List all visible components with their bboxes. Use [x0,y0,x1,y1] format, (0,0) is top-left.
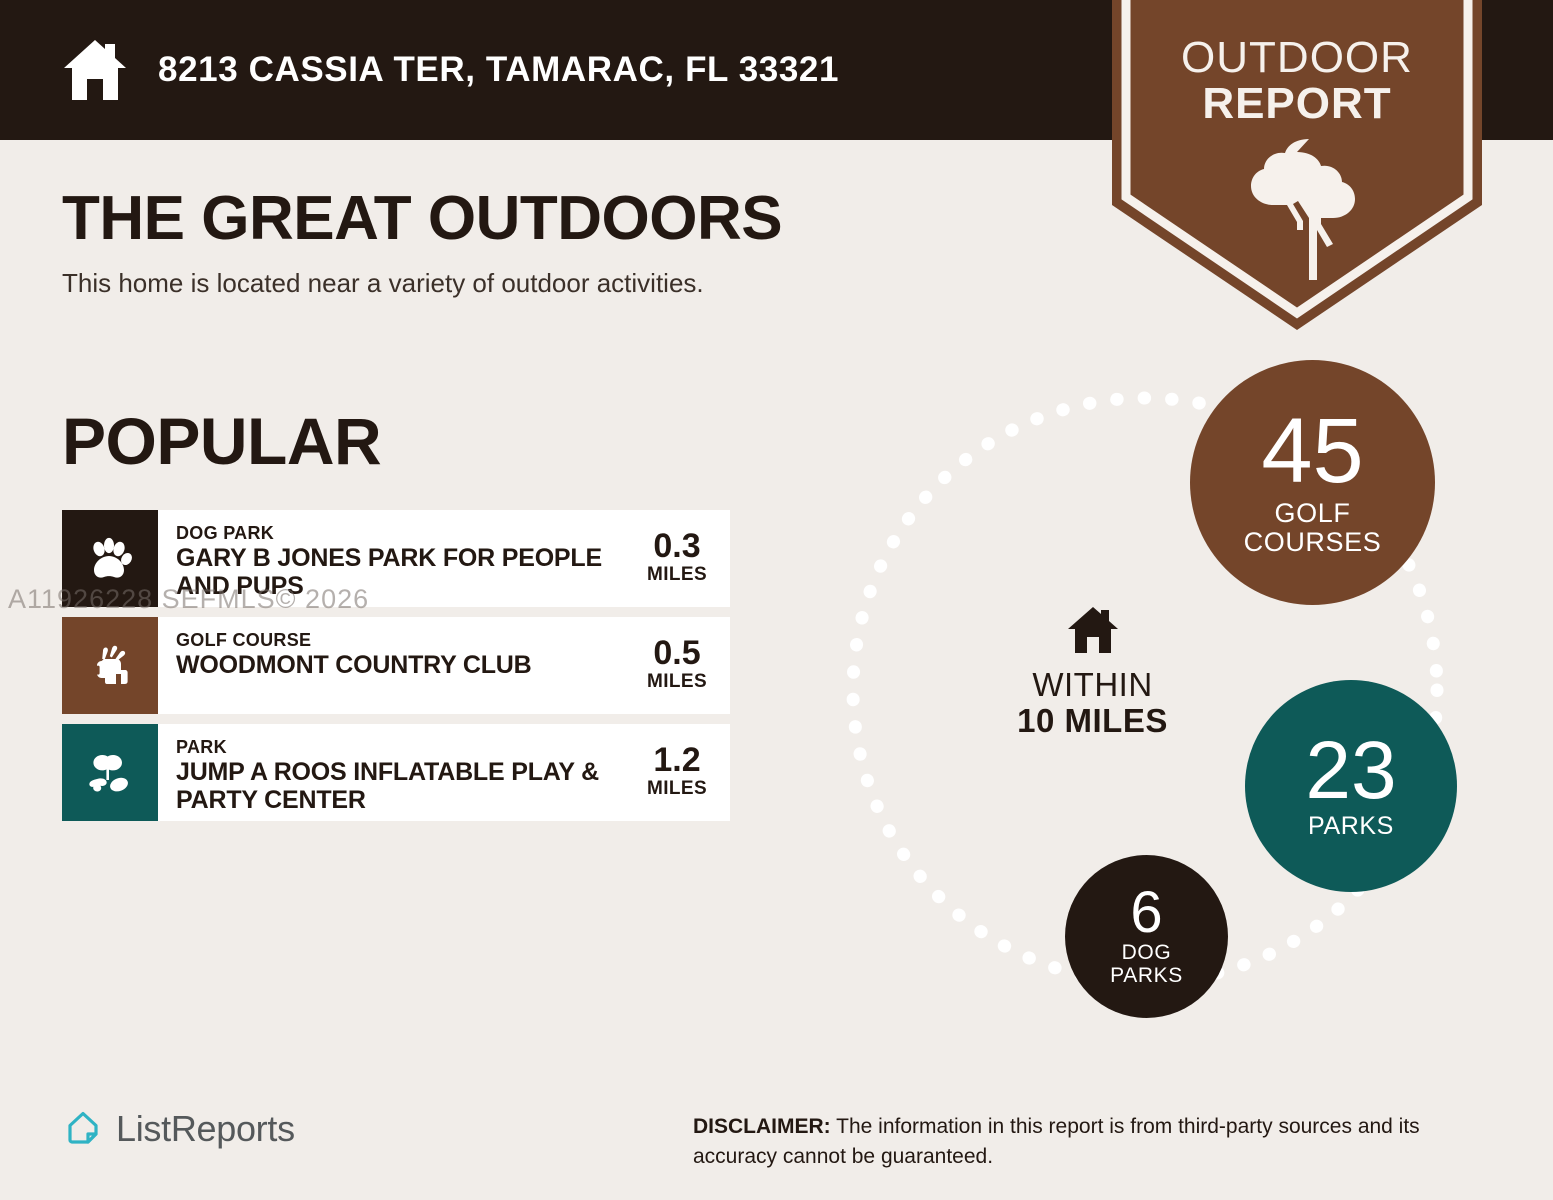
poi-icon-box [62,724,158,821]
page-title: THE GREAT OUTDOORS [62,188,782,250]
page-subtitle: This home is located near a variety of o… [62,268,782,299]
poi-category: PARK [176,737,632,758]
stat-circle-dog-parks[interactable]: 6 DOG PARKS [1065,855,1228,1018]
outdoor-report-badge: OUTDOOR REPORT [1112,0,1482,330]
stat-circle-parks[interactable]: 23 PARKS [1245,680,1457,892]
within-line-2: 10 MILES [975,703,1210,740]
stat-label-line-1: GOLF [1275,498,1351,528]
poi-icon-box [62,510,158,607]
poi-distance-unit: MILES [647,777,707,802]
stat-label-line-2: PARKS [1110,964,1183,987]
stat-label: GOLF COURSES [1244,499,1382,557]
stat-value: 6 [1130,885,1162,940]
headline-block: THE GREAT OUTDOORS This home is located … [62,188,782,299]
popular-section-title: POPULAR [62,408,381,474]
park-tree-icon [86,749,134,797]
poi-name: GARY B JONES PARK FOR PEOPLE AND PUPS [176,544,632,600]
poi-distance: 0.5 MILES [638,617,730,714]
poi-text-block: DOG PARK GARY B JONES PARK FOR PEOPLE AN… [158,510,638,607]
poi-category: DOG PARK [176,523,632,544]
poi-text-block: PARK JUMP A ROOS INFLATABLE PLAY & PARTY… [158,724,638,821]
listreports-house-tag-icon [62,1108,104,1150]
listreports-logo-text: ListReports [116,1108,295,1150]
list-item[interactable]: PARK JUMP A ROOS INFLATABLE PLAY & PARTY… [62,724,730,821]
poi-distance-unit: MILES [647,670,707,695]
list-item[interactable]: DOG PARK GARY B JONES PARK FOR PEOPLE AN… [62,510,730,607]
paw-print-icon [86,535,134,583]
stat-label: PARKS [1308,813,1394,840]
badge-shape [1112,0,1482,330]
listreports-logo[interactable]: ListReports [62,1108,295,1150]
house-icon [60,38,130,102]
poi-name: WOODMONT COUNTRY CLUB [176,651,632,679]
golf-bag-icon [86,642,134,690]
stat-value: 45 [1261,408,1363,495]
outdoor-report-infographic: 8213 CASSIA TER, TAMARAC, FL 33321 OUTDO… [0,0,1553,1200]
poi-distance-unit: MILES [647,563,707,588]
poi-icon-box [62,617,158,714]
house-icon [1065,605,1121,655]
poi-category: GOLF COURSE [176,630,632,651]
poi-distance: 0.3 MILES [638,510,730,607]
poi-name: JUMP A ROOS INFLATABLE PLAY & PARTY CENT… [176,758,632,814]
stat-label-line-1: PARKS [1308,812,1394,840]
property-address: 8213 CASSIA TER, TAMARAC, FL 33321 [158,50,839,90]
stat-value: 23 [1305,732,1396,810]
disclaimer: DISCLAIMER: The information in this repo… [693,1112,1503,1172]
within-line-1: WITHIN [975,667,1210,703]
stat-label: DOG PARKS [1110,942,1183,987]
stats-cluster: WITHIN 10 MILES 45 GOLF COURSES 23 PARKS… [835,355,1485,1025]
stat-circle-golf-courses[interactable]: 45 GOLF COURSES [1190,360,1435,605]
poi-text-block: GOLF COURSE WOODMONT COUNTRY CLUB [158,617,638,714]
poi-distance-value: 1.2 [653,743,700,777]
list-item[interactable]: GOLF COURSE WOODMONT COUNTRY CLUB 0.5 MI… [62,617,730,714]
poi-distance-value: 0.5 [653,636,700,670]
popular-poi-list: DOG PARK GARY B JONES PARK FOR PEOPLE AN… [62,510,730,831]
stat-label-line-1: DOG [1122,941,1172,964]
disclaimer-label: DISCLAIMER: [693,1115,831,1138]
poi-distance-value: 0.3 [653,529,700,563]
poi-distance: 1.2 MILES [638,724,730,821]
stat-label-line-2: COURSES [1244,527,1382,557]
within-radius-block: WITHIN 10 MILES [975,605,1210,740]
